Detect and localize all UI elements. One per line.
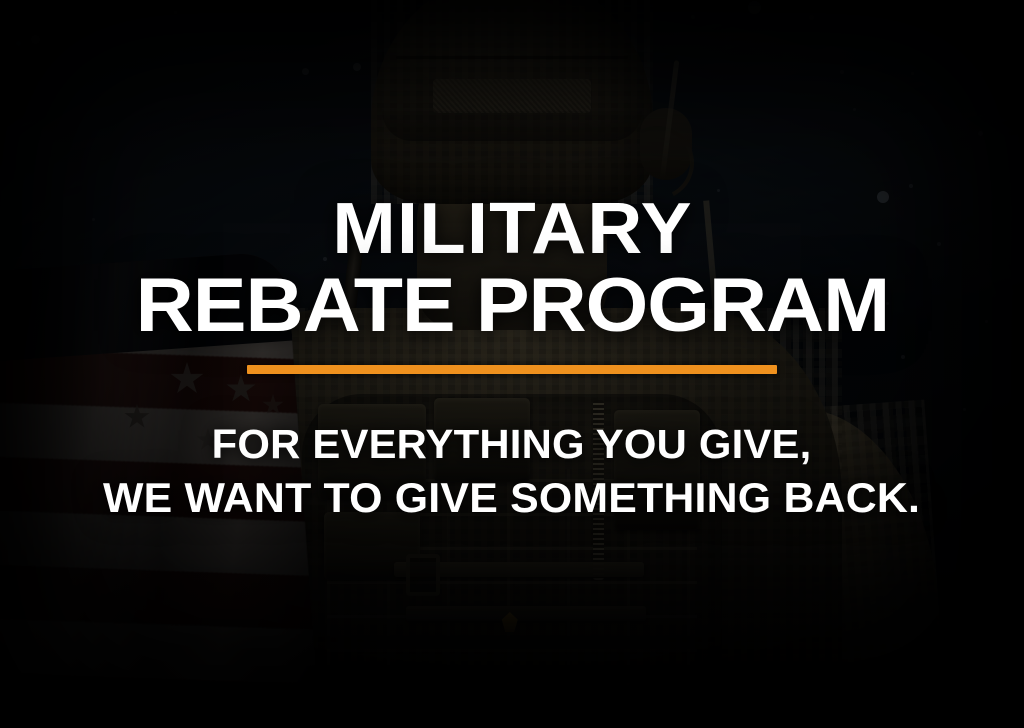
- banner-content: MILITARY REBATE PROGRAM FOR EVERYTHING Y…: [0, 0, 1024, 728]
- subheadline-line-2: WE WANT TO GIVE SOMETHING BACK.: [103, 471, 920, 525]
- accent-divider: [247, 365, 777, 374]
- headline: MILITARY REBATE PROGRAM: [135, 196, 888, 341]
- subheadline-line-1: FOR EVERYTHING YOU GIVE,: [103, 418, 920, 470]
- subheadline: FOR EVERYTHING YOU GIVE, WE WANT TO GIVE…: [103, 418, 920, 524]
- headline-line-1: MILITARY: [135, 196, 888, 264]
- military-rebate-banner: MILITARY REBATE PROGRAM FOR EVERYTHING Y…: [0, 0, 1024, 728]
- headline-line-2: REBATE PROGRAM: [135, 270, 888, 341]
